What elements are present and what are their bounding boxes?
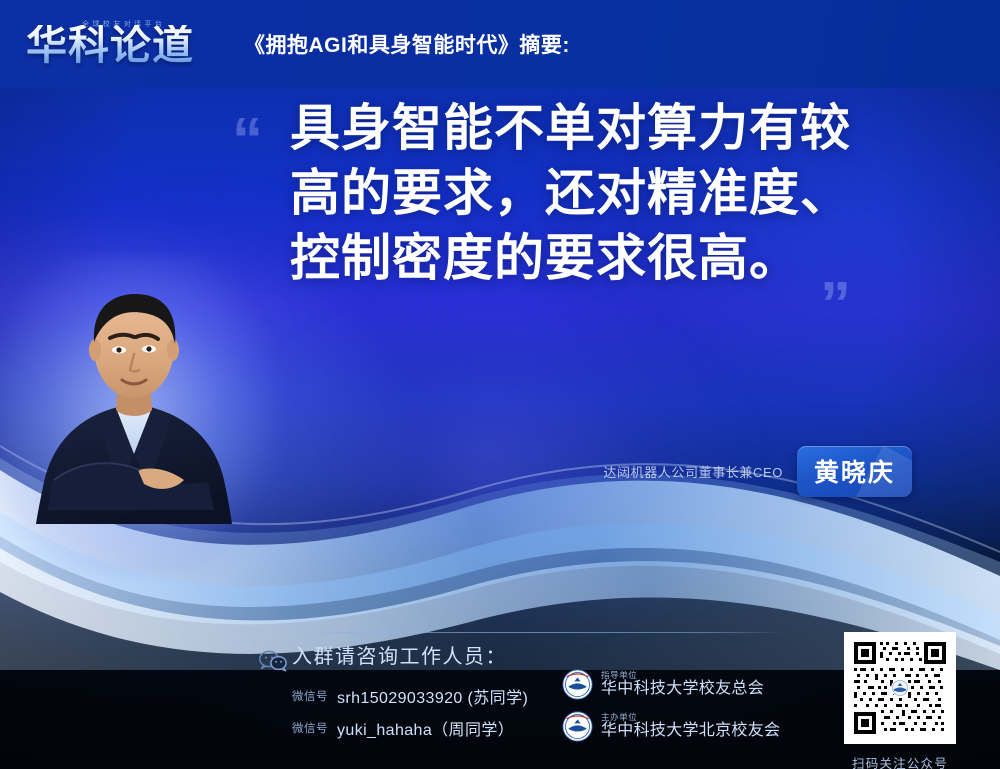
- organization-kind: 主办单位: [601, 713, 780, 722]
- speaker-name-badge: 黄晓庆: [797, 446, 912, 497]
- portrait-illustration: [18, 286, 250, 552]
- quote-line: 高的要求，还对精准度、: [290, 161, 932, 226]
- organization-item: 主办单位 华中科技大学北京校友会: [562, 710, 780, 743]
- contact-heading: 入群请咨询工作人员：: [292, 640, 810, 669]
- speaker-role: 达闼机器人公司董事长兼CEO: [603, 462, 783, 481]
- contact-label: 微信号: [292, 688, 328, 704]
- organization-kind: 指导单位: [601, 671, 764, 680]
- quote-close-icon: ”: [820, 274, 849, 336]
- quote-text: 具身智能不单对算力有较 高的要求，还对精准度、 控制密度的要求很高。: [232, 96, 932, 291]
- wechat-icon: [258, 650, 288, 672]
- speaker-portrait: [18, 286, 250, 552]
- organization-list: 指导单位 华中科技大学校友总会 主办单位 华中科技大学北京校友会: [562, 668, 780, 752]
- logo-wordmark: 华科论道: [26, 25, 194, 66]
- contact-label: 微信号: [292, 720, 328, 736]
- quote-open-icon: “: [232, 110, 261, 172]
- university-seal-icon: [562, 669, 593, 700]
- speaker-name: 黄晓庆: [814, 459, 895, 487]
- contact-value[interactable]: yuki_hahaha（周同学）: [337, 716, 514, 740]
- quote-block: “ ” 具身智能不单对算力有较 高的要求，还对精准度、 控制密度的要求很高。: [232, 96, 932, 291]
- poster-root: 全球校友对话平台 华科论道 《拥抱AGI和具身智能时代》摘要: “ ” 具身智能…: [0, 0, 1000, 769]
- qr-code[interactable]: [844, 632, 956, 744]
- header-bar: 全球校友对话平台 华科论道 《拥抱AGI和具身智能时代》摘要:: [0, 0, 1000, 88]
- footer-divider: [288, 632, 784, 633]
- contact-value[interactable]: srh15029033920 (苏同学): [337, 684, 528, 708]
- page-title: 《拥抱AGI和具身智能时代》摘要:: [244, 29, 570, 59]
- qr-caption: 扫码关注公众号: [836, 753, 964, 769]
- organization-name: 华中科技大学校友总会: [601, 681, 764, 698]
- speaker-attribution: 达闼机器人公司董事长兼CEO 黄晓庆: [603, 446, 912, 497]
- qr-section: 扫码关注公众号: [836, 632, 964, 769]
- brand-logo[interactable]: 全球校友对话平台 华科论道: [26, 13, 222, 75]
- university-seal-icon: [562, 711, 593, 742]
- qr-code-image: [850, 638, 950, 738]
- ear-left: [89, 339, 101, 361]
- organization-name: 华中科技大学北京校友会: [601, 723, 780, 740]
- quote-line: 具身智能不单对算力有较: [290, 96, 932, 161]
- ear-right: [167, 339, 179, 361]
- pupil-right: [146, 346, 151, 351]
- pupil-left: [116, 347, 121, 352]
- organization-item: 指导单位 华中科技大学校友总会: [562, 668, 780, 701]
- organization-text: 指导单位 华中科技大学校友总会: [601, 671, 764, 698]
- organization-text: 主办单位 华中科技大学北京校友会: [601, 713, 780, 740]
